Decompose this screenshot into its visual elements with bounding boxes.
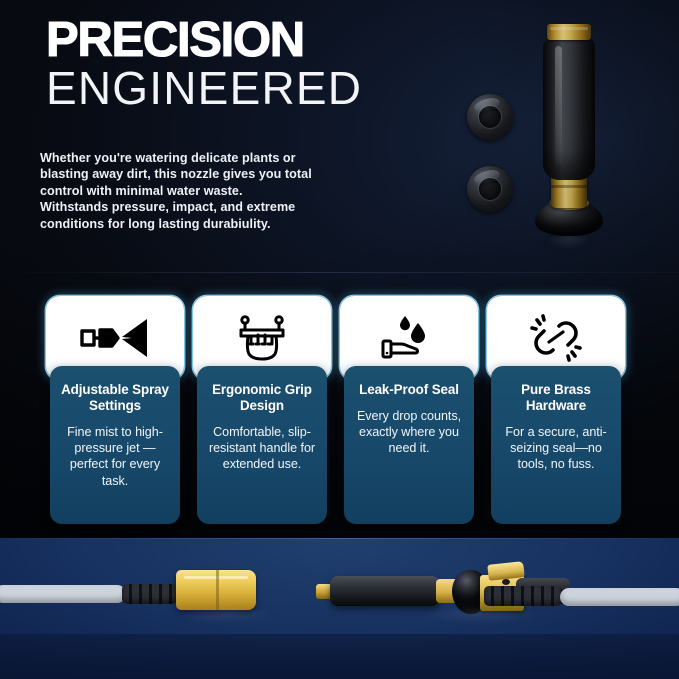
headline: PRECISION ENGINEERED [46, 15, 476, 114]
card-description: Fine mist to high-pressure jet — perfect… [57, 424, 173, 489]
reflection-shelf [0, 272, 679, 273]
nozzle-body [543, 38, 595, 180]
braided-hose-right [560, 588, 679, 606]
spray-nozzle-product [531, 24, 605, 242]
feature-card-row: Adjustable Spray Settings Fine mist to h… [46, 296, 634, 528]
headline-line-1: PRECISION [46, 15, 476, 65]
card-panel: Leak-Proof Seal Every drop counts, exact… [344, 366, 474, 524]
brass-hose-connector [176, 570, 256, 610]
hose-strain-relief-left [122, 584, 177, 604]
hose-strain-relief-right [484, 586, 562, 606]
feature-card-ergonomic-grip-design[interactable]: Ergonomic Grip Design Comfortable, slip-… [193, 296, 331, 528]
feature-card-leak-proof-seal[interactable]: Leak-Proof Seal Every drop counts, exact… [340, 296, 478, 528]
card-title: Pure Brass Hardware [498, 382, 614, 414]
washer-seal-upper [467, 94, 513, 140]
product-infographic: PRECISION ENGINEERED Whether you're wate… [0, 0, 679, 679]
feature-card-adjustable-spray-settings[interactable]: Adjustable Spray Settings Fine mist to h… [46, 296, 184, 528]
nozzle-handle-bottom [330, 576, 440, 606]
headline-line-2: ENGINEERED [46, 63, 476, 114]
band-floor [0, 634, 679, 679]
band-top-edge [0, 538, 679, 539]
band-reflection-right [390, 610, 570, 636]
card-panel: Adjustable Spray Settings Fine mist to h… [50, 366, 180, 524]
card-panel: Ergonomic Grip Design Comfortable, slip-… [197, 366, 327, 524]
card-description: Comfortable, slip-resistant handle for e… [204, 424, 320, 473]
hero-body-copy: Whether you're watering delicate plants … [40, 150, 312, 232]
card-description: Every drop counts, exactly where you nee… [351, 408, 467, 457]
washer-seal-lower [467, 166, 513, 212]
band-reflection-left [150, 610, 300, 636]
hero-product-image [443, 8, 673, 276]
card-title: Leak-Proof Seal [351, 382, 467, 398]
card-description: For a secure, anti-seizing seal—no tools… [498, 424, 614, 473]
card-title: Ergonomic Grip Design [204, 382, 320, 414]
nozzle-reflection [537, 236, 601, 266]
feature-card-pure-brass-hardware[interactable]: Pure Brass Hardware For a secure, anti-s… [487, 296, 625, 528]
card-panel: Pure Brass Hardware For a secure, anti-s… [491, 366, 621, 524]
card-title: Adjustable Spray Settings [57, 382, 173, 414]
nozzle-brass-tip [547, 24, 591, 40]
bottom-product-band [0, 538, 679, 679]
valve-pin [502, 579, 510, 585]
braided-hose-left [0, 585, 126, 603]
